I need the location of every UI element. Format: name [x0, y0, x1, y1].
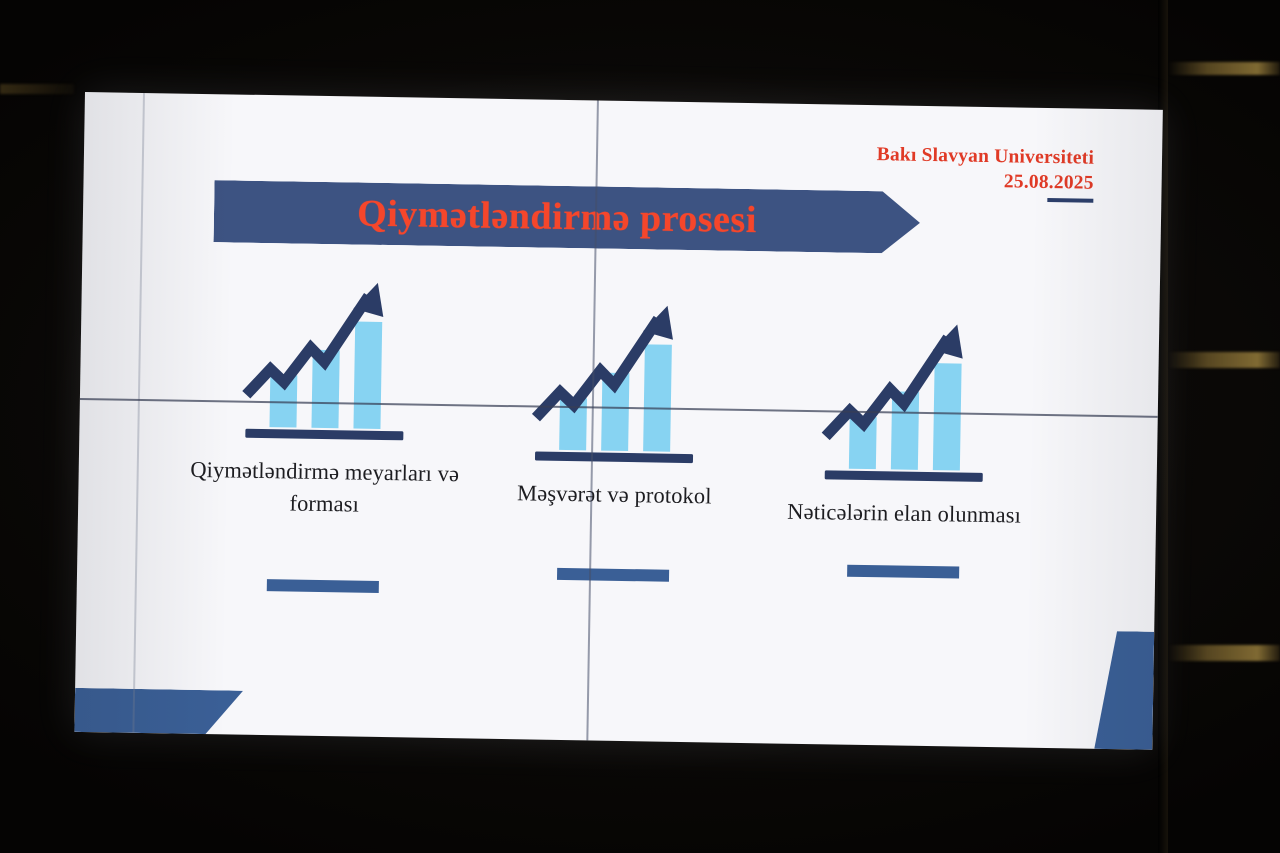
wall-trim-band-left [0, 84, 74, 94]
process-step-2: Məşvərət və protokol [463, 284, 768, 583]
title-banner: Qiymətləndirmə prosesi [214, 180, 921, 254]
process-step-2-caption: Məşvərət və protokol [464, 476, 764, 513]
wall-trim-band-middle [1168, 352, 1280, 368]
process-step-3: Nəticələrin elan olunması [753, 303, 1057, 580]
slide-header: Bakı Slavyan Universiteti 25.08.2025 [876, 143, 1094, 197]
process-step-1: Qiymətləndirmə meyarları və forması [173, 262, 478, 595]
process-columns: Qiymətləndirmə meyarları və forması Məşv… [171, 262, 1098, 707]
bottom-right-decoration [1094, 631, 1154, 750]
panel-seam-vertical-left [132, 93, 144, 733]
university-name: Bakı Slavyan Universiteti [876, 143, 1094, 172]
header-rule [1047, 198, 1093, 202]
presentation-slide: Bakı Slavyan Universiteti 25.08.2025 Qiy… [74, 92, 1162, 750]
bottom-left-decoration [74, 688, 243, 735]
wall-trim-band-bottom [1168, 645, 1280, 661]
process-step-3-rule [847, 565, 959, 579]
growth-bar-chart-arrow-icon [819, 304, 994, 483]
growth-bar-chart-arrow-icon [529, 285, 704, 464]
process-step-1-caption: Qiymətləndirmə meyarları və forması [174, 454, 475, 523]
process-step-3-caption: Nəticələrin elan olunması [754, 495, 1054, 532]
process-step-1-rule [267, 579, 379, 593]
video-wall-display: Bakı Slavyan Universiteti 25.08.2025 Qiy… [74, 92, 1162, 750]
wall-trim-band-top [1168, 62, 1280, 75]
growth-bar-chart-arrow-icon [239, 263, 414, 442]
slide-date: 25.08.2025 [876, 168, 1094, 197]
process-step-2-rule [557, 568, 669, 582]
slide-title: Qiymətləndirmə prosesi [357, 192, 777, 243]
